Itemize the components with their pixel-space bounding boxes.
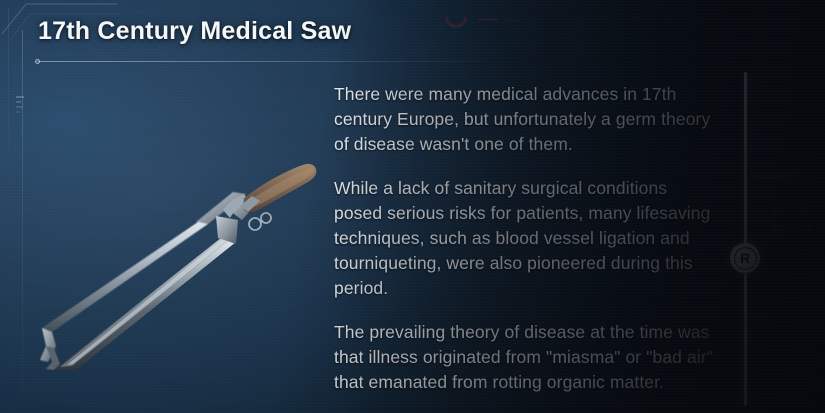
frame-edge-line-secondary (8, 8, 9, 158)
scrollbar-handle-label: R (734, 247, 757, 270)
page-title: 17th Century Medical Saw (38, 17, 351, 46)
deco-arc (440, 1, 471, 32)
deco-bar-2 (505, 19, 521, 22)
deco-bar-3 (738, 318, 768, 320)
paragraph-1: There were many medical advances in 17th… (334, 82, 719, 157)
body-text-column: There were many medical advances in 17th… (334, 82, 719, 395)
frame-edge-line (22, 30, 23, 390)
hud-info-panel: PNEU N T R P N E U NOT 17th Century Medi… (0, 0, 825, 413)
deco-bar-1 (478, 18, 498, 21)
deco-glyph-mid: P N E U (772, 205, 825, 239)
deco-bar-4 (728, 390, 772, 392)
paragraph-2: While a lack of sanitary surgical condit… (334, 176, 719, 301)
scrollbar-handle-r-button[interactable]: R (730, 243, 760, 273)
deco-glyph-top: PNEU (668, 10, 728, 25)
scrollbar-track[interactable] (744, 72, 747, 406)
artifact-image (30, 150, 320, 370)
deco-glyph-small: N T R (600, 12, 643, 24)
paragraph-3: The prevailing theory of disease at the … (334, 320, 719, 395)
frame-tickmarks (16, 96, 26, 116)
title-divider (38, 61, 523, 62)
deco-zigzag-1 (745, 172, 795, 180)
